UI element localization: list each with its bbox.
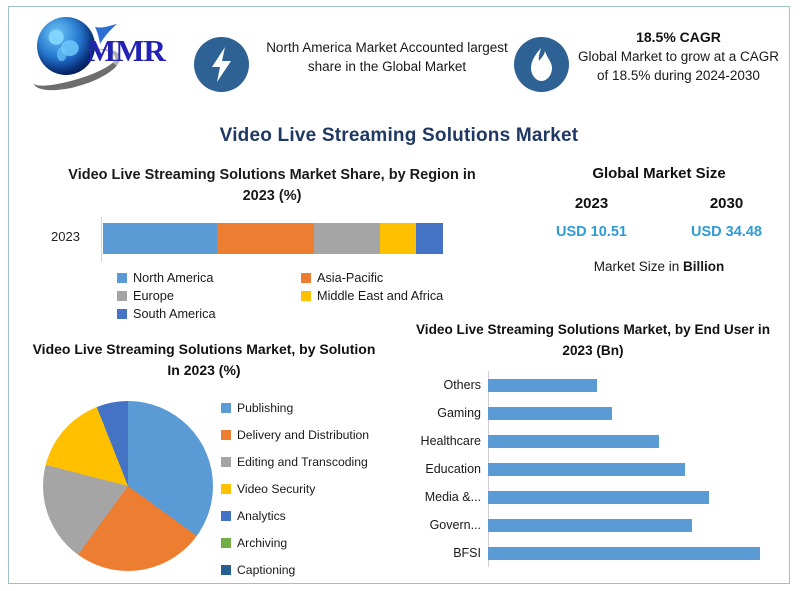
- year-end: 2030: [710, 195, 743, 212]
- region-segment: [416, 223, 443, 254]
- global-market-size-panel: Global Market Size 2023 2030 USD 10.51 U…: [524, 165, 794, 274]
- legend-label: Publishing: [237, 401, 293, 415]
- legend-swatch: [221, 565, 231, 575]
- legend-item: Middle East and Africa: [301, 289, 517, 303]
- bar-value: [488, 491, 709, 504]
- legend-item: Europe: [117, 289, 301, 303]
- page-title: Video Live Streaming Solutions Market: [9, 125, 789, 147]
- header-badge-cagr: 18.5% CAGR Global Market to grow at a CA…: [514, 21, 782, 85]
- bar-row: Others: [395, 371, 791, 399]
- legend-item: Archiving: [221, 536, 369, 550]
- value-end: USD 34.48: [691, 224, 762, 240]
- cagr-value: 18.5% CAGR: [576, 28, 781, 47]
- legend-item: Captioning: [221, 563, 369, 577]
- unit-note-prefix: Market Size in: [594, 259, 683, 274]
- bar-row: Education: [395, 455, 791, 483]
- header-badge-body: 18.5% CAGR Global Market to grow at a CA…: [576, 21, 781, 85]
- end-user-plot: OthersGamingHealthcareEducationMedia &..…: [395, 371, 791, 571]
- legend-swatch: [221, 457, 231, 467]
- infographic-frame: MMR North America Market Accounted large…: [8, 6, 790, 584]
- bar-row: Gaming: [395, 399, 791, 427]
- pie-graphic: [43, 401, 213, 571]
- legend-swatch: [221, 484, 231, 494]
- bar-row: BFSI: [395, 539, 791, 567]
- legend-swatch: [221, 430, 231, 440]
- value-start: USD 10.51: [556, 224, 627, 240]
- global-market-size-years: 2023 2030: [524, 195, 794, 212]
- legend-label: Analytics: [237, 509, 286, 523]
- legend-item: Analytics: [221, 509, 369, 523]
- bar-label: Education: [395, 462, 488, 476]
- bar-value: [488, 407, 612, 420]
- unit-note-unit: Billion: [683, 259, 724, 274]
- global-market-size-title: Global Market Size: [524, 165, 794, 182]
- legend-swatch: [221, 403, 231, 413]
- legend-item: Delivery and Distribution: [221, 428, 369, 442]
- region-stacked-bar: [103, 223, 443, 254]
- bar-value: [488, 519, 692, 532]
- legend-swatch: [117, 291, 127, 301]
- legend-item: Asia-Pacific: [301, 271, 517, 285]
- region-share-legend: North AmericaAsia-PacificEuropeMiddle Ea…: [117, 271, 517, 321]
- legend-swatch: [221, 538, 231, 548]
- region-share-axis-label: 2023: [51, 229, 80, 244]
- legend-label: Europe: [133, 289, 174, 303]
- bar-label: Govern...: [395, 518, 488, 532]
- header: MMR North America Market Accounted large…: [9, 7, 789, 115]
- end-user-bar-chart: Video Live Streaming Solutions Market, b…: [395, 319, 791, 587]
- bar-value: [488, 463, 685, 476]
- header-badge-text: North America Market Accounted largest s…: [262, 21, 512, 76]
- solution-pie-chart: Video Live Streaming Solutions Market, b…: [21, 339, 421, 589]
- region-segment: [103, 223, 217, 254]
- bar-value: [488, 379, 597, 392]
- region-segment: [314, 223, 380, 254]
- bar-value: [488, 435, 659, 448]
- legend-swatch: [221, 511, 231, 521]
- flame-icon: [514, 37, 569, 92]
- legend-item: Publishing: [221, 401, 369, 415]
- end-user-bar-title: Video Live Streaming Solutions Market, b…: [413, 319, 773, 361]
- legend-label: Delivery and Distribution: [237, 428, 369, 442]
- bar-row: Media &...: [395, 483, 791, 511]
- lightning-bolt-icon: [194, 37, 249, 92]
- bar-row: Healthcare: [395, 427, 791, 455]
- solution-pie-legend: PublishingDelivery and DistributionEditi…: [221, 401, 369, 577]
- region-share-chart: Video Live Streaming Solutions Market Sh…: [29, 165, 509, 325]
- legend-label: South America: [133, 307, 216, 321]
- legend-label: North America: [133, 271, 213, 285]
- legend-label: Captioning: [237, 563, 295, 577]
- legend-swatch: [301, 273, 311, 283]
- bar-row: Govern...: [395, 511, 791, 539]
- cagr-description: Global Market to grow at a CAGR of 18.5%…: [576, 47, 781, 85]
- legend-swatch: [117, 309, 127, 319]
- region-share-plot: [101, 217, 464, 262]
- bar-label: BFSI: [395, 546, 488, 560]
- legend-label: Asia-Pacific: [317, 271, 383, 285]
- bar-label: Media &...: [395, 490, 488, 504]
- legend-swatch: [301, 291, 311, 301]
- header-badge-north-america: North America Market Accounted largest s…: [194, 21, 514, 76]
- legend-item: North America: [117, 271, 301, 285]
- solution-pie-title: Video Live Streaming Solutions Market, b…: [29, 339, 379, 381]
- legend-item: South America: [117, 307, 301, 321]
- legend-swatch: [117, 273, 127, 283]
- legend-label: Video Security: [237, 482, 315, 496]
- legend-label: Archiving: [237, 536, 287, 550]
- year-start: 2023: [575, 195, 608, 212]
- region-segment: [380, 223, 416, 254]
- bar-label: Healthcare: [395, 434, 488, 448]
- bar-value: [488, 547, 760, 560]
- bar-label: Gaming: [395, 406, 488, 420]
- global-market-size-values: USD 10.51 USD 34.48: [524, 224, 794, 240]
- brand-name: MMR: [87, 33, 165, 69]
- region-segment: [217, 223, 314, 254]
- market-size-unit-note: Market Size in Billion: [524, 259, 794, 274]
- bar-label: Others: [395, 378, 488, 392]
- legend-label: Editing and Transcoding: [237, 455, 368, 469]
- brand-logo: MMR: [31, 13, 181, 79]
- legend-item: Editing and Transcoding: [221, 455, 369, 469]
- region-share-title: Video Live Streaming Solutions Market Sh…: [57, 165, 487, 207]
- legend-item: Video Security: [221, 482, 369, 496]
- legend-label: Middle East and Africa: [317, 289, 443, 303]
